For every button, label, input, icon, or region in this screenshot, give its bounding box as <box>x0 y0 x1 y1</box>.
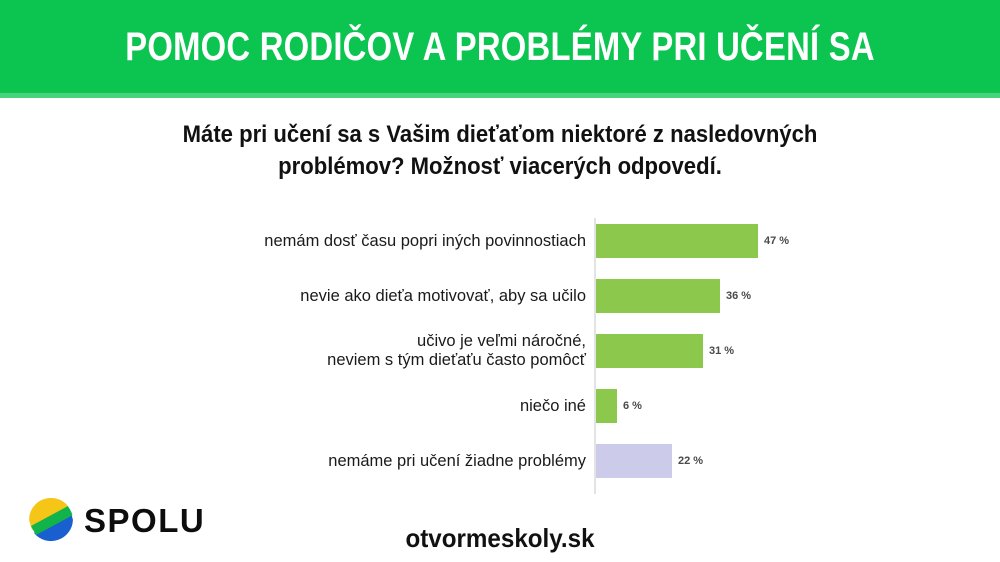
bar-category-label-line-1: niečo iné <box>520 397 586 416</box>
chart-row: nevie ako dieťa motivovať, aby sa učilo … <box>0 279 1000 313</box>
chart-row: učivo je veľmi náročné, neviem s tým die… <box>0 334 1000 368</box>
bar-value-label-2: 31 % <box>709 334 734 368</box>
chart-row: niečo iné 6 % <box>0 389 1000 423</box>
site-url-text: otvormeskoly.sk <box>35 523 965 554</box>
bar-category-label: nemám dosť času popri iných povinnostiac… <box>156 224 586 258</box>
horizontal-bar-chart: nemám dosť času popri iných povinnostiac… <box>0 206 1000 496</box>
chart-row: nemám dosť času popri iných povinnostiac… <box>0 224 1000 258</box>
bar-category-label: nevie ako dieťa motivovať, aby sa učilo <box>156 279 586 313</box>
bar-4 <box>596 444 672 478</box>
bar-category-label: niečo iné <box>156 389 586 423</box>
bar-category-label: učivo je veľmi náročné, neviem s tým die… <box>156 334 586 368</box>
bar-category-label-line-1: nemáme pri učení žiadne problémy <box>328 452 586 471</box>
bar-value-label-0: 47 % <box>764 224 789 258</box>
chart-row: nemáme pri učení žiadne problémy 22 % <box>0 444 1000 478</box>
bar-0 <box>596 224 758 258</box>
bar-category-label-line-2: neviem s tým dieťaťu často pomôcť <box>327 351 586 370</box>
bar-category-label-line-1: nemám dosť času popri iných povinnostiac… <box>264 232 586 251</box>
bar-3 <box>596 389 617 423</box>
bar-1 <box>596 279 720 313</box>
bar-value-label-3: 6 % <box>623 389 642 423</box>
bar-value-label-1: 36 % <box>726 279 751 313</box>
header-underline <box>0 93 1000 98</box>
bar-category-label-line-1: nevie ako dieťa motivovať, aby sa učilo <box>300 287 586 306</box>
page-title: POMOC RODIČOV A PROBLÉMY PRI UČENÍ SA <box>90 0 910 93</box>
question-text: Máte pri učení sa s Vašim dieťaťom niekt… <box>150 119 849 184</box>
question-line-1: Máte pri učení sa s Vašim dieťaťom niekt… <box>150 119 849 151</box>
bar-category-label: nemáme pri učení žiadne problémy <box>156 444 586 478</box>
bar-value-label-4: 22 % <box>678 444 703 478</box>
bar-category-label-line-1: učivo je veľmi náročné, <box>327 332 586 351</box>
bar-2 <box>596 334 703 368</box>
question-line-2: problémov? Možnosť viacerých odpovedí. <box>150 151 849 183</box>
